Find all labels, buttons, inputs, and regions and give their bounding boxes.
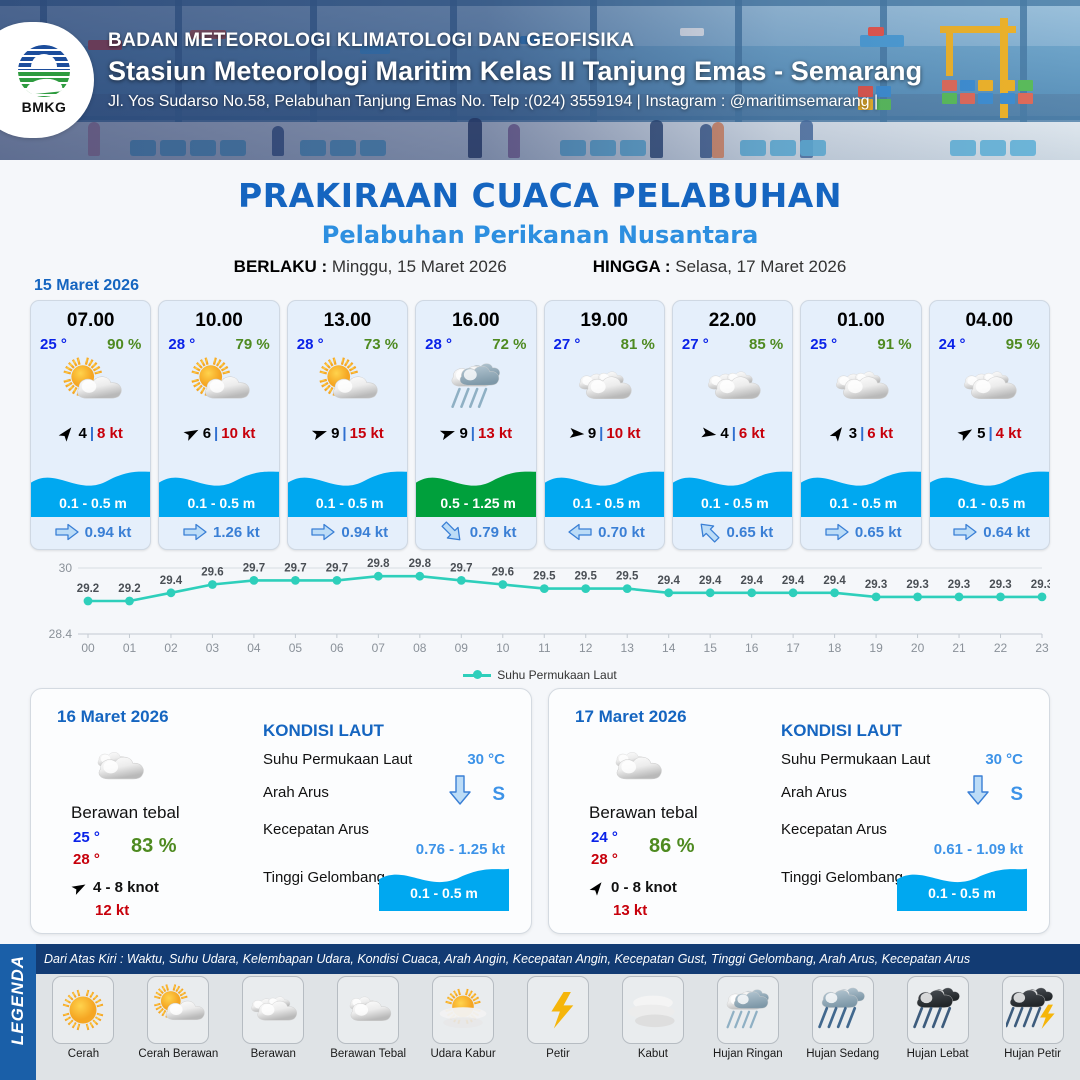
card-temperature: 24 °: [939, 336, 966, 353]
legend-item: Udara Kabur: [416, 976, 511, 1080]
card-time: 16.00: [416, 301, 535, 332]
organization-name: BADAN METEOROLOGI KLIMATOLOGI DAN GEOFIS…: [108, 30, 1068, 52]
card-temperature: 27 °: [554, 336, 581, 353]
valid-until: HINGGA : Selasa, 17 Maret 2026: [593, 257, 847, 277]
card-temp-humidity-row: 28 ° 73 %: [288, 332, 407, 353]
svg-text:29.5: 29.5: [575, 571, 598, 583]
card-time: 04.00: [930, 301, 1049, 332]
legend-icon-hujan-lebat: [907, 976, 969, 1044]
card-current-row: 0.94 kt: [31, 519, 151, 545]
svg-text:05: 05: [289, 641, 303, 655]
forecast-card[interactable]: 07.00 25 ° 90 % 4 | 8 kt 0.1 - 0.5 m 0.9…: [30, 300, 151, 550]
svg-text:03: 03: [206, 641, 220, 655]
card-temperature: 25 °: [810, 336, 837, 353]
card-separator: |: [471, 425, 475, 442]
card-weather-icon-cerah-berawan: [288, 356, 407, 418]
forecast-card[interactable]: 01.00 25 ° 91 % 3 | 6 kt 0.1 - 0.5 m: [800, 300, 921, 550]
current-speed-label: Kecepatan Arus: [781, 821, 887, 838]
card-wind-row: 3 | 6 kt: [801, 418, 920, 448]
day-gust: 12 kt: [95, 902, 129, 919]
card-wind-speed: 10 kt: [606, 425, 640, 442]
legend-item-label: Hujan Sedang: [806, 1048, 879, 1060]
forecast-card[interactable]: 22.00 27 ° 85 % 4 | 6 kt 0.1 - 0.5 m: [672, 300, 793, 550]
wind-direction-arrow-icon: [700, 425, 717, 442]
day-wave-value: 0.1 - 0.5 m: [897, 885, 1027, 901]
card-current-speed: 0.65 kt: [727, 524, 774, 541]
svg-text:29.2: 29.2: [118, 583, 140, 595]
svg-text:29.3: 29.3: [948, 579, 970, 591]
current-speed-label: Kecepatan Arus: [263, 821, 369, 838]
card-wind-direction: 9: [331, 425, 339, 442]
svg-text:29.3: 29.3: [906, 579, 928, 591]
card-current-row: 0.64 kt: [930, 519, 1050, 545]
legend-icon-cerah: [52, 976, 114, 1044]
day-wave-value: 0.1 - 0.5 m: [379, 885, 509, 901]
svg-text:17: 17: [786, 641, 800, 655]
card-temp-humidity-row: 28 ° 79 %: [159, 332, 278, 353]
current-direction-label: Arah Arus: [781, 784, 847, 801]
card-temp-humidity-row: 28 ° 72 %: [416, 332, 535, 353]
card-weather-icon-cerah-berawan: [31, 356, 150, 418]
sst-label: Suhu Permukaan Laut: [263, 751, 412, 768]
svg-text:28.4: 28.4: [49, 627, 73, 641]
wind-direction-arrow-icon: [589, 880, 605, 896]
card-wind-speed: 6 kt: [739, 425, 765, 442]
card-current-speed: 0.94 kt: [85, 524, 132, 541]
current-speed-value: 0.76 - 1.25 kt: [416, 841, 505, 858]
daily-summary-panel[interactable]: 16 Maret 2026 Berawan tebal 25 ° 28 ° 83…: [30, 688, 532, 934]
validity-row: BERLAKU : Minggu, 15 Maret 2026 HINGGA :…: [0, 257, 1080, 277]
card-wind-row: 4 | 8 kt: [31, 418, 150, 448]
day-humidity: 86 %: [649, 835, 695, 858]
card-wind-speed: 8 kt: [97, 425, 123, 442]
wind-direction-arrow-icon: [957, 425, 974, 442]
station-name: Stasiun Meteorologi Maritim Kelas II Tan…: [108, 56, 1068, 87]
card-wind-speed: 4 kt: [996, 425, 1022, 442]
card-separator: |: [342, 425, 346, 442]
forecast-card[interactable]: 10.00 28 ° 79 % 6 | 10 kt 0.1 - 0.5 m 1.…: [158, 300, 279, 550]
card-wind-speed: 6 kt: [867, 425, 893, 442]
day-condition: Berawan tebal: [71, 803, 180, 823]
card-time: 19.00: [545, 301, 664, 332]
page-title: PRAKIRAAN CUACA PELABUHAN: [0, 176, 1080, 215]
current-direction-arrow-icon: [697, 522, 721, 542]
card-wind-row: 4 | 6 kt: [673, 418, 792, 448]
svg-text:29.7: 29.7: [326, 562, 348, 574]
wave-height-label: Tinggi Gelombang: [781, 869, 903, 886]
legend-item: Cerah Berawan: [131, 976, 226, 1080]
current-direction-label: Arah Arus: [263, 784, 329, 801]
card-temp-humidity-row: 27 ° 85 %: [673, 332, 792, 353]
sea-condition-title: KONDISI LAUT: [263, 721, 384, 741]
svg-text:22: 22: [994, 641, 1008, 655]
card-current-row: 0.94 kt: [288, 519, 408, 545]
day-humidity: 83 %: [131, 835, 177, 858]
sea-condition-title: KONDISI LAUT: [781, 721, 902, 741]
forecast-card-list: 07.00 25 ° 90 % 4 | 8 kt 0.1 - 0.5 m 0.9…: [30, 300, 1050, 550]
card-wind-speed: 13 kt: [478, 425, 512, 442]
card-time: 13.00: [288, 301, 407, 332]
sst-chart: 3028.429.20029.20129.40229.60329.70429.7…: [30, 556, 1050, 681]
svg-text:14: 14: [662, 641, 676, 655]
legend-icon-hujan-sedang: [812, 976, 874, 1044]
valid-until-label: HINGGA :: [593, 257, 671, 276]
svg-text:08: 08: [413, 641, 427, 655]
current-direction-arrow-icon: [825, 522, 849, 542]
card-wind-row: 9 | 15 kt: [288, 418, 407, 448]
legend-item: Berawan Tebal: [321, 976, 416, 1080]
day-weather-icon-berawan-tebal: [83, 737, 153, 797]
svg-text:23: 23: [1035, 641, 1049, 655]
day-wind: 4 - 8 knot: [71, 879, 159, 896]
card-time: 22.00: [673, 301, 792, 332]
current-direction-arrow-icon: [440, 522, 464, 542]
valid-until-value: Selasa, 17 Maret 2026: [675, 257, 846, 276]
svg-text:29.6: 29.6: [201, 567, 223, 579]
card-wave-height: 0.1 - 0.5 m: [930, 495, 1050, 511]
card-wind-direction: 4: [78, 425, 86, 442]
svg-text:29.8: 29.8: [409, 558, 432, 570]
card-time: 07.00: [31, 301, 150, 332]
legend-bar: LEGENDA Dari Atas Kiri : Waktu, Suhu Uda…: [0, 944, 1080, 1080]
svg-text:18: 18: [828, 641, 842, 655]
legend-item-label: Petir: [546, 1048, 570, 1060]
card-temperature: 27 °: [682, 336, 709, 353]
day-date: 17 Maret 2026: [575, 707, 687, 727]
legend-item: Berawan: [226, 976, 321, 1080]
card-weather-icon-berawan: [673, 356, 792, 418]
card-temperature: 25 °: [40, 336, 67, 353]
legend-icon-hujan-ringan: [717, 976, 779, 1044]
card-wind-row: 9 | 10 kt: [545, 418, 664, 448]
legend-icon-berawan-tebal: [337, 976, 399, 1044]
station-address: Jl. Yos Sudarso No.58, Pelabuhan Tanjung…: [108, 93, 1068, 111]
card-wave-height: 0.1 - 0.5 m: [159, 495, 279, 511]
card-humidity: 90 %: [107, 336, 141, 353]
card-weather-icon-berawan: [545, 356, 664, 418]
legend-item-label: Cerah: [68, 1048, 99, 1060]
svg-text:04: 04: [247, 641, 261, 655]
card-humidity: 85 %: [749, 336, 783, 353]
card-current-row: 0.70 kt: [545, 519, 665, 545]
svg-text:29.7: 29.7: [284, 562, 306, 574]
card-weather-icon-berawan: [801, 356, 920, 418]
card-wind-row: 9 | 13 kt: [416, 418, 535, 448]
svg-text:29.8: 29.8: [367, 558, 390, 570]
card-wave-height: 0.1 - 0.5 m: [673, 495, 793, 511]
wind-direction-arrow-icon: [311, 425, 328, 442]
chart-legend: Suhu Permukaan Laut: [30, 668, 1050, 682]
svg-text:16: 16: [745, 641, 759, 655]
svg-text:29.4: 29.4: [782, 575, 805, 587]
legend-item: Hujan Sedang: [795, 976, 890, 1080]
card-current-row: 0.79 kt: [416, 519, 536, 545]
card-separator: |: [732, 425, 736, 442]
card-wave-height: 0.5 - 1.25 m: [416, 495, 536, 511]
sst-label: Suhu Permukaan Laut: [781, 751, 930, 768]
svg-text:21: 21: [952, 641, 966, 655]
card-current-speed: 0.65 kt: [855, 524, 902, 541]
current-direction-value: S: [1010, 784, 1023, 806]
card-wave-height: 0.1 - 0.5 m: [288, 495, 408, 511]
card-temperature: 28 °: [297, 336, 324, 353]
svg-text:29.5: 29.5: [616, 571, 639, 583]
svg-text:07: 07: [372, 641, 386, 655]
day-temp-min: 25 °: [73, 829, 100, 846]
sst-chart-svg: 3028.429.20029.20129.40229.60329.70429.7…: [30, 556, 1050, 664]
card-separator: |: [599, 425, 603, 442]
legend-side-tab: LEGENDA: [0, 944, 36, 1080]
legend-item-label: Udara Kabur: [430, 1048, 495, 1060]
svg-text:29.7: 29.7: [450, 562, 472, 574]
legend-note: Dari Atas Kiri : Waktu, Suhu Udara, Kele…: [36, 944, 1080, 974]
wind-direction-arrow-icon: [829, 425, 846, 442]
svg-text:29.3: 29.3: [865, 579, 887, 591]
card-wind-speed: 15 kt: [350, 425, 384, 442]
card-temp-humidity-row: 27 ° 81 %: [545, 332, 664, 353]
svg-text:01: 01: [123, 641, 137, 655]
card-humidity: 72 %: [492, 336, 526, 353]
valid-from-value: Minggu, 15 Maret 2026: [332, 257, 507, 276]
legend-side-label: LEGENDA: [8, 950, 28, 1050]
svg-text:20: 20: [911, 641, 925, 655]
valid-from: BERLAKU : Minggu, 15 Maret 2026: [234, 257, 507, 277]
card-wind-direction: 9: [588, 425, 596, 442]
chart-legend-marker: [463, 674, 491, 677]
card-humidity: 91 %: [877, 336, 911, 353]
svg-text:29.4: 29.4: [160, 575, 183, 587]
svg-text:29.6: 29.6: [492, 567, 514, 579]
legend-item-label: Berawan Tebal: [330, 1048, 406, 1060]
svg-text:06: 06: [330, 641, 344, 655]
day-gust: 13 kt: [613, 902, 647, 919]
card-wind-direction: 6: [203, 425, 211, 442]
card-humidity: 73 %: [364, 336, 398, 353]
bmkg-logo-icon: [18, 45, 70, 97]
sst-value: 30 °C: [467, 751, 505, 768]
card-current-row: 1.26 kt: [159, 519, 279, 545]
legend-icon-petir: [527, 976, 589, 1044]
current-direction-value: S: [492, 784, 505, 806]
current-direction-arrow-icon: [568, 522, 592, 542]
legend-icon-kabut: [622, 976, 684, 1044]
header-text-block: BADAN METEOROLOGI KLIMATOLOGI DAN GEOFIS…: [108, 30, 1068, 111]
card-separator: |: [988, 425, 992, 442]
card-separator: |: [90, 425, 94, 442]
wind-direction-arrow-icon: [183, 425, 200, 442]
legend-item-label: Cerah Berawan: [138, 1048, 218, 1060]
legend-item: Petir: [511, 976, 606, 1080]
wind-direction-arrow-icon: [439, 425, 456, 442]
day-wind-value: 4 - 8 knot: [93, 879, 159, 896]
card-humidity: 79 %: [236, 336, 270, 353]
legend-item-label: Hujan Ringan: [713, 1048, 783, 1060]
valid-from-label: BERLAKU :: [234, 257, 328, 276]
legend-item: Hujan Lebat: [890, 976, 985, 1080]
legend-item: Hujan Ringan: [700, 976, 795, 1080]
legend-icon-cerah-berawan: [147, 976, 209, 1044]
svg-text:11: 11: [538, 641, 551, 655]
legend-icon-berawan: [242, 976, 304, 1044]
card-temperature: 28 °: [168, 336, 195, 353]
card-wind-row: 5 | 4 kt: [930, 418, 1049, 448]
card-weather-icon-hujan-ringan: [416, 356, 535, 418]
current-direction-arrow-icon: [449, 775, 471, 805]
svg-text:29.7: 29.7: [243, 562, 265, 574]
card-wind-direction: 5: [977, 425, 985, 442]
card-current-speed: 0.79 kt: [470, 524, 517, 541]
forecast-card[interactable]: 19.00 27 ° 81 % 9 | 10 kt 0.1 - 0.5 m: [544, 300, 665, 550]
card-time: 01.00: [801, 301, 920, 332]
legend-item: Kabut: [605, 976, 700, 1080]
legend-item-label: Hujan Lebat: [907, 1048, 969, 1060]
svg-text:19: 19: [869, 641, 883, 655]
legend-item: Hujan Petir: [985, 976, 1080, 1080]
card-wind-direction: 4: [720, 425, 728, 442]
day-weather-icon-berawan-tebal: [601, 737, 671, 797]
forecast-date-label: 15 Maret 2026: [34, 277, 139, 295]
wind-direction-arrow-icon: [71, 880, 87, 896]
legend-item-label: Kabut: [638, 1048, 668, 1060]
card-wind-speed: 10 kt: [221, 425, 255, 442]
card-wave-height: 0.1 - 0.5 m: [545, 495, 665, 511]
day-condition: Berawan tebal: [589, 803, 698, 823]
legend-item-list: Cerah Cerah Berawan Berawan: [36, 976, 1080, 1080]
bmkg-logo-text: BMKG: [22, 99, 67, 115]
card-temp-humidity-row: 25 ° 91 %: [801, 332, 920, 353]
svg-text:09: 09: [455, 641, 469, 655]
legend-item-label: Hujan Petir: [1004, 1048, 1061, 1060]
card-humidity: 95 %: [1006, 336, 1040, 353]
svg-text:15: 15: [704, 641, 718, 655]
current-direction-arrow-icon: [967, 775, 989, 805]
day-wind: 0 - 8 knot: [589, 879, 677, 896]
current-direction-arrow-icon: [311, 522, 335, 542]
card-temp-humidity-row: 24 ° 95 %: [930, 332, 1049, 353]
day-temp-max: 28 °: [591, 851, 618, 868]
legend-item: Cerah: [36, 976, 131, 1080]
day-date: 16 Maret 2026: [57, 707, 169, 727]
card-weather-icon-berawan: [930, 356, 1049, 418]
card-wind-row: 6 | 10 kt: [159, 418, 278, 448]
card-separator: |: [860, 425, 864, 442]
svg-text:29.4: 29.4: [699, 575, 722, 587]
current-speed-value: 0.61 - 1.09 kt: [934, 841, 1023, 858]
legend-item-label: Berawan: [251, 1048, 296, 1060]
wind-direction-arrow-icon: [58, 425, 75, 442]
daily-summary-panel[interactable]: 17 Maret 2026 Berawan tebal 24 ° 28 ° 86…: [548, 688, 1050, 934]
day-wind-value: 0 - 8 knot: [611, 879, 677, 896]
chart-legend-label: Suhu Permukaan Laut: [497, 668, 616, 682]
card-current-row: 0.65 kt: [673, 519, 793, 545]
title-block: PRAKIRAAN CUACA PELABUHAN Pelabuhan Peri…: [0, 176, 1080, 277]
svg-text:13: 13: [621, 641, 635, 655]
daily-summary-list: 16 Maret 2026 Berawan tebal 25 ° 28 ° 83…: [30, 688, 1050, 934]
legend-icon-hujan-petir: [1002, 976, 1064, 1044]
forecast-card[interactable]: 16.00 28 ° 72 % 9 | 13 kt 0.5 - 1.25 m: [415, 300, 536, 550]
card-wind-direction: 9: [459, 425, 467, 442]
page-subtitle: Pelabuhan Perikanan Nusantara: [0, 221, 1080, 249]
card-time: 10.00: [159, 301, 278, 332]
card-current-row: 0.65 kt: [801, 519, 921, 545]
card-temp-humidity-row: 25 ° 90 %: [31, 332, 150, 353]
card-wind-direction: 3: [849, 425, 857, 442]
card-separator: |: [214, 425, 218, 442]
current-direction-arrow-icon: [183, 522, 207, 542]
card-current-speed: 0.94 kt: [341, 524, 388, 541]
svg-text:10: 10: [496, 641, 510, 655]
forecast-card[interactable]: 04.00 24 ° 95 % 5 | 4 kt 0.1 - 0.5 m: [929, 300, 1050, 550]
wind-direction-arrow-icon: [568, 425, 585, 442]
sst-value: 30 °C: [985, 751, 1023, 768]
card-temperature: 28 °: [425, 336, 452, 353]
svg-text:12: 12: [579, 641, 593, 655]
forecast-card[interactable]: 13.00 28 ° 73 % 9 | 15 kt 0.1 - 0.5 m 0.…: [287, 300, 408, 550]
svg-text:02: 02: [164, 641, 178, 655]
current-direction-arrow-icon: [953, 522, 977, 542]
card-wave-height: 0.1 - 0.5 m: [801, 495, 921, 511]
card-current-speed: 0.64 kt: [983, 524, 1030, 541]
day-temp-min: 24 °: [591, 829, 618, 846]
svg-text:30: 30: [59, 561, 73, 575]
svg-text:29.4: 29.4: [823, 575, 846, 587]
svg-text:00: 00: [81, 641, 95, 655]
current-direction-arrow-icon: [55, 522, 79, 542]
svg-text:29.5: 29.5: [533, 571, 556, 583]
legend-icon-udara-kabur: [432, 976, 494, 1044]
svg-text:29.4: 29.4: [658, 575, 681, 587]
card-current-speed: 0.70 kt: [598, 524, 645, 541]
svg-text:29.4: 29.4: [741, 575, 764, 587]
card-current-speed: 1.26 kt: [213, 524, 260, 541]
day-temp-max: 28 °: [73, 851, 100, 868]
card-wave-height: 0.1 - 0.5 m: [31, 495, 151, 511]
page-header: BMKG BADAN METEOROLOGI KLIMATOLOGI DAN G…: [0, 0, 1080, 160]
card-weather-icon-cerah-berawan: [159, 356, 278, 418]
card-humidity: 81 %: [621, 336, 655, 353]
svg-text:29.2: 29.2: [77, 583, 99, 595]
svg-text:29.3: 29.3: [989, 579, 1011, 591]
svg-text:29.3: 29.3: [1031, 579, 1050, 591]
wave-height-label: Tinggi Gelombang: [263, 869, 385, 886]
